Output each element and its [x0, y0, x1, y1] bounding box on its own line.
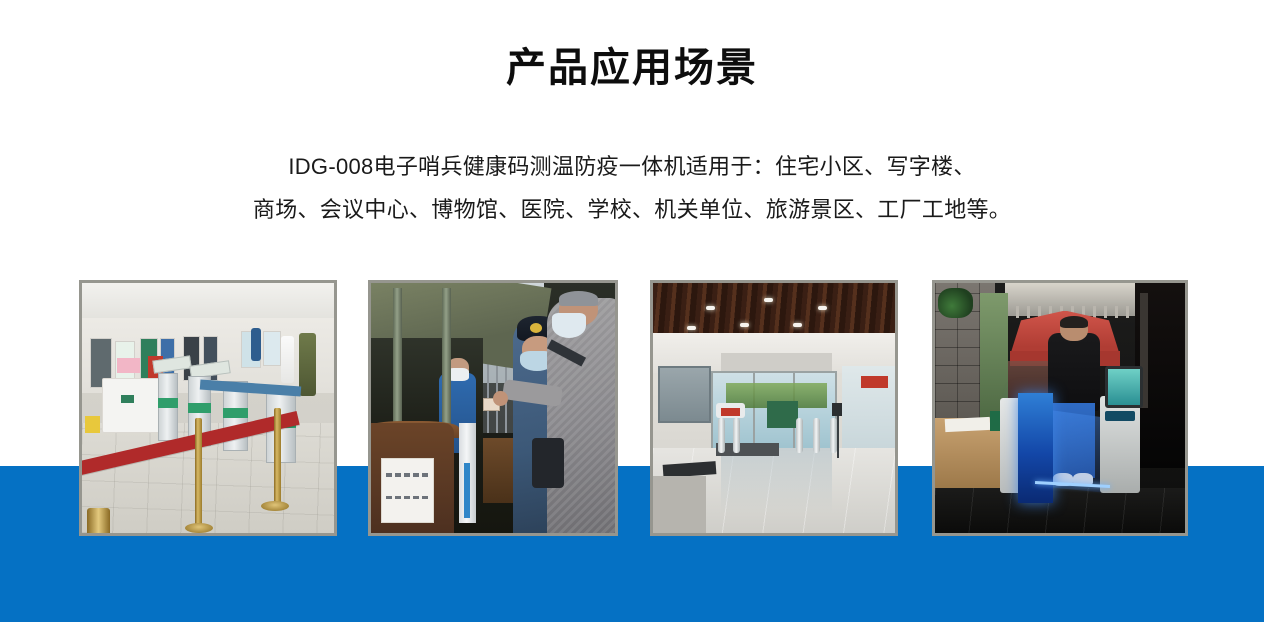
scene-photo-speed-gate[interactable]	[932, 280, 1188, 536]
scene-photo-office-lobby[interactable]	[650, 280, 898, 536]
photo-gallery	[0, 280, 1264, 536]
page-title: 产品应用场景	[0, 44, 1264, 92]
description-line-2: 商场、会议中心、博物馆、医院、学校、机关单位、旅游景区、工厂工地等。	[0, 189, 1264, 232]
photo-3-content	[653, 283, 895, 533]
description-line-1: IDG-008电子哨兵健康码测温防疫一体机适用于：住宅小区、写字楼、	[0, 146, 1264, 189]
scene-photo-hospital-lobby[interactable]	[79, 280, 337, 536]
photo-4-content	[935, 283, 1185, 533]
scene-photo-checkpoint-tent[interactable]	[368, 280, 618, 536]
photo-2-content	[371, 283, 615, 533]
slide-root: 产品应用场景 IDG-008电子哨兵健康码测温防疫一体机适用于：住宅小区、写字楼…	[0, 0, 1264, 622]
page-description: IDG-008电子哨兵健康码测温防疫一体机适用于：住宅小区、写字楼、 商场、会议…	[0, 146, 1264, 232]
photo-1-content	[82, 283, 334, 533]
